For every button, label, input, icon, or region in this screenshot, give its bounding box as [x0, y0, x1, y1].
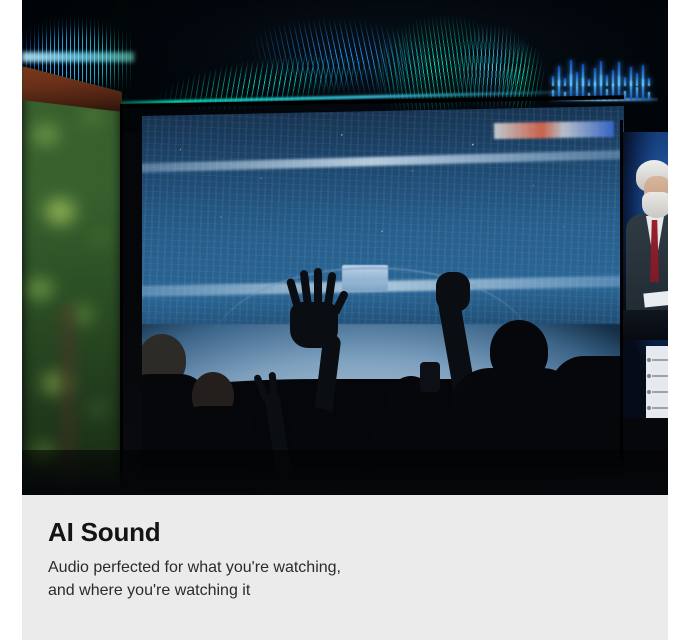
raised-hand-right	[436, 272, 470, 312]
bezel-seam-right	[620, 120, 623, 460]
panel-shadow-base	[622, 418, 668, 450]
tv-screen-stadium	[120, 106, 624, 495]
feature-title: AI Sound	[48, 517, 161, 547]
hero-image	[22, 0, 668, 495]
hand-finger-3	[314, 268, 322, 310]
studio-desk	[622, 310, 668, 340]
equalizer-core-glow	[22, 52, 134, 62]
product-feature-card: AI Sound Audio perfected for what you're…	[0, 0, 692, 640]
caption-panel: AI Sound Audio perfected for what you're…	[22, 495, 668, 640]
feature-description-line-2: and where you're watching it	[48, 582, 250, 599]
interviewee-beard	[642, 192, 668, 218]
window-foliage-view	[22, 66, 122, 495]
drink-cup	[420, 362, 440, 392]
foliage-shadow-overlay	[22, 66, 122, 495]
interview-sub-panel	[622, 132, 668, 450]
feature-description: Audio perfected for what you're watching…	[48, 556, 341, 602]
desk-paper	[643, 290, 668, 307]
bezel-seam-left	[120, 104, 123, 495]
bezel-seam-bottom	[22, 450, 668, 495]
lower-graphic-panel	[646, 346, 668, 418]
feature-description-line-1: Audio perfected for what you're watching…	[48, 559, 341, 576]
